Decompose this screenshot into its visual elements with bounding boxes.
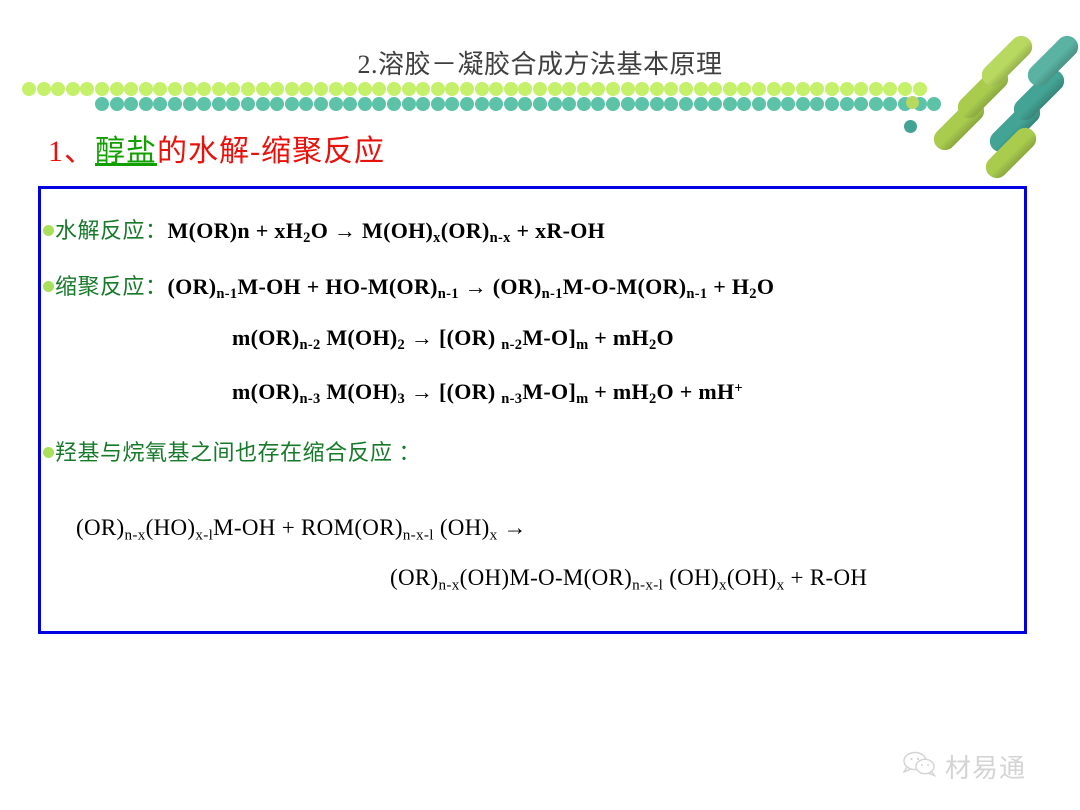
ribbon-dot bbox=[650, 82, 664, 96]
ribbon-dot bbox=[51, 82, 65, 96]
ribbon-dot bbox=[183, 82, 197, 96]
list-bullet bbox=[43, 447, 54, 458]
ribbon-dot bbox=[110, 82, 124, 96]
watermark: 材易通 bbox=[903, 748, 1026, 785]
ribbon-dot bbox=[606, 82, 620, 96]
ribbon-dot bbox=[591, 97, 605, 111]
ribbon-dot bbox=[825, 82, 839, 96]
ribbon-dot bbox=[606, 97, 620, 111]
ribbon-dot bbox=[299, 97, 313, 111]
heading-suffix: 的水解-缩聚反应 bbox=[157, 135, 385, 168]
ribbon-dot bbox=[153, 82, 167, 96]
ribbon-dot bbox=[197, 82, 211, 96]
ribbon-dot bbox=[518, 97, 532, 111]
ribbon-dot bbox=[226, 97, 240, 111]
ribbon-dot bbox=[402, 97, 416, 111]
ribbon-dot bbox=[431, 97, 445, 111]
hydroxyl-note-label: 羟基与烷氧基之间也存在缩合反应 ： bbox=[55, 435, 421, 467]
ribbon-dot bbox=[241, 97, 255, 111]
list-bullet bbox=[43, 225, 54, 236]
ribbon-dot bbox=[212, 82, 226, 96]
watermark-text: 材易通 bbox=[945, 748, 1026, 785]
ribbon-dot bbox=[781, 97, 795, 111]
row-condensation: 缩聚反应： (OR)n-1M-OH + HO-M(OR)n-1 → (OR)n-… bbox=[55, 269, 774, 303]
ribbon-dot bbox=[372, 97, 386, 111]
ribbon-dot bbox=[387, 82, 401, 96]
ribbon-dot bbox=[124, 97, 138, 111]
ribbon-dot bbox=[621, 97, 635, 111]
ribbon-dot bbox=[635, 82, 649, 96]
ribbon-dot bbox=[416, 82, 430, 96]
ribbon-dot bbox=[314, 82, 328, 96]
ribbon-dot bbox=[664, 82, 678, 96]
ribbon-dot bbox=[37, 82, 51, 96]
ribbon-dot bbox=[533, 82, 547, 96]
ribbon-dot bbox=[694, 97, 708, 111]
ribbon-dot bbox=[299, 82, 313, 96]
ribbon-dot bbox=[504, 97, 518, 111]
ribbon-dot bbox=[810, 82, 824, 96]
ribbon-dot bbox=[343, 82, 357, 96]
ribbon-dot bbox=[402, 82, 416, 96]
ribbon-dot bbox=[767, 82, 781, 96]
ribbon-dot bbox=[504, 82, 518, 96]
ribbon-dot bbox=[256, 97, 270, 111]
ribbon-dot bbox=[66, 82, 80, 96]
ribbon-dot bbox=[212, 97, 226, 111]
ribbon-dot bbox=[694, 82, 708, 96]
ribbon-dot bbox=[489, 82, 503, 96]
equation-4: m(OR)n-3 M(OH)3 → [(OR) n-3M-O]m + mH2O … bbox=[232, 379, 743, 408]
ribbon-dot bbox=[796, 82, 810, 96]
row-hydrolysis: 水解反应： M(OR)n + xH2O → M(OH)x(OR)n-x + xR… bbox=[55, 213, 605, 247]
ribbon-dot bbox=[358, 82, 372, 96]
heading-highlight: 醇盐 bbox=[95, 135, 157, 168]
ribbon-dot bbox=[577, 97, 591, 111]
ribbon-dot bbox=[650, 97, 664, 111]
ribbon-dot bbox=[343, 97, 357, 111]
ribbon-dot bbox=[431, 82, 445, 96]
ribbon-dot bbox=[270, 82, 284, 96]
condensation-label: 缩聚反应： bbox=[55, 269, 168, 301]
section-heading: 1、醇盐的水解-缩聚反应 bbox=[48, 126, 385, 170]
ribbon-dot bbox=[285, 97, 299, 111]
ribbon-dot bbox=[387, 97, 401, 111]
ribbon-dot bbox=[95, 82, 109, 96]
ribbon-dot bbox=[621, 82, 635, 96]
ribbon-dot bbox=[460, 82, 474, 96]
ribbon-dot bbox=[22, 82, 36, 96]
ribbon-dot bbox=[168, 97, 182, 111]
ribbon-dot bbox=[883, 82, 897, 96]
ribbon-dot bbox=[416, 97, 430, 111]
ribbon-dot bbox=[723, 97, 737, 111]
equation-6: (OR)n-x(OH)M-O-M(OR)n-x-l (OH)x(OH)x + R… bbox=[390, 565, 867, 594]
ribbon-dot bbox=[241, 82, 255, 96]
ribbon-dot bbox=[635, 97, 649, 111]
hydrolysis-label: 水解反应： bbox=[55, 213, 168, 245]
ribbon-dot bbox=[767, 97, 781, 111]
condensation-equation: (OR)n-1M-OH + HO-M(OR)n-1 → (OR)n-1M-O-M… bbox=[168, 274, 775, 303]
ribbon-dot bbox=[110, 97, 124, 111]
ribbon-dot bbox=[869, 97, 883, 111]
ribbon-dot bbox=[168, 82, 182, 96]
ribbon-dot bbox=[80, 82, 94, 96]
ribbon-dot bbox=[285, 82, 299, 96]
row-equation-4: m(OR)n-3 M(OH)3 → [(OR) n-3M-O]m + mH2O … bbox=[232, 379, 743, 408]
ribbon-dot bbox=[548, 82, 562, 96]
ribbon-dot bbox=[840, 97, 854, 111]
ribbon-dot bbox=[460, 97, 474, 111]
heading-prefix: 1、 bbox=[48, 135, 95, 168]
ribbon-dot bbox=[562, 82, 576, 96]
row-equation-6: (OR)n-x(OH)M-O-M(OR)n-x-l (OH)x(OH)x + R… bbox=[390, 565, 867, 594]
ribbon-dot bbox=[591, 82, 605, 96]
ribbon-dot bbox=[445, 97, 459, 111]
ribbon-dot bbox=[664, 97, 678, 111]
ribbon-dot bbox=[898, 82, 912, 96]
ribbon-dot bbox=[737, 97, 751, 111]
ribbon-dot bbox=[679, 97, 693, 111]
wechat-icon bbox=[903, 751, 937, 782]
row-hydroxyl-note: 羟基与烷氧基之间也存在缩合反应 ： bbox=[55, 435, 421, 467]
ribbon-dot bbox=[197, 97, 211, 111]
row-equation-3: m(OR)n-2 M(OH)2 → [(OR) n-2M-O]m + mH2O bbox=[232, 325, 674, 354]
decorative-capsules-graphic bbox=[918, 24, 1068, 174]
ribbon-dot bbox=[372, 82, 386, 96]
ribbon-dot bbox=[854, 97, 868, 111]
equation-3: m(OR)n-2 M(OH)2 → [(OR) n-2M-O]m + mH2O bbox=[232, 325, 674, 354]
ribbon-dot bbox=[723, 82, 737, 96]
ribbon-dot bbox=[95, 97, 109, 111]
ribbon-dot bbox=[869, 82, 883, 96]
ribbon-dot bbox=[475, 97, 489, 111]
ribbon-dot bbox=[475, 82, 489, 96]
ribbon-dot bbox=[708, 82, 722, 96]
ribbon-dot bbox=[577, 82, 591, 96]
ribbon-dot bbox=[358, 97, 372, 111]
ribbon-dot bbox=[562, 97, 576, 111]
ribbon-dot bbox=[854, 82, 868, 96]
equation-5: (OR)n-x(HO)x-lM-OH + ROM(OR)n-x-l (OH)x … bbox=[76, 515, 527, 544]
ribbon-dot bbox=[139, 82, 153, 96]
hydrolysis-equation: M(OR)n + xH2O → M(OH)x(OR)n-x + xR-OH bbox=[168, 218, 606, 247]
ribbon-dot bbox=[708, 97, 722, 111]
ribbon-dot bbox=[489, 97, 503, 111]
ribbon-dot bbox=[270, 97, 284, 111]
ribbon-dot bbox=[825, 97, 839, 111]
ribbon-dot bbox=[226, 82, 240, 96]
ribbon-dot bbox=[139, 97, 153, 111]
ribbon-dot bbox=[796, 97, 810, 111]
ribbon-dot bbox=[329, 82, 343, 96]
ribbon-dot bbox=[518, 82, 532, 96]
ribbon-dot bbox=[679, 82, 693, 96]
ribbon-dot bbox=[124, 82, 138, 96]
decorative-dot bbox=[906, 96, 919, 109]
row-equation-5: (OR)n-x(HO)x-lM-OH + ROM(OR)n-x-l (OH)x … bbox=[76, 515, 527, 544]
ribbon-dot bbox=[752, 82, 766, 96]
list-bullet bbox=[43, 281, 54, 292]
ribbon-dot bbox=[752, 97, 766, 111]
ribbon-dot bbox=[533, 97, 547, 111]
ribbon-dot bbox=[153, 97, 167, 111]
ribbon-dot bbox=[883, 97, 897, 111]
ribbon-dot bbox=[548, 97, 562, 111]
ribbon-dot bbox=[314, 97, 328, 111]
ribbon-dot bbox=[840, 82, 854, 96]
ribbon-dot bbox=[445, 82, 459, 96]
ribbon-dot bbox=[737, 82, 751, 96]
decorative-dot bbox=[904, 120, 917, 133]
ribbon-dot bbox=[256, 82, 270, 96]
ribbon-dot bbox=[810, 97, 824, 111]
ribbon-dot bbox=[781, 82, 795, 96]
ribbon-dot bbox=[183, 97, 197, 111]
ribbon-dot bbox=[329, 97, 343, 111]
